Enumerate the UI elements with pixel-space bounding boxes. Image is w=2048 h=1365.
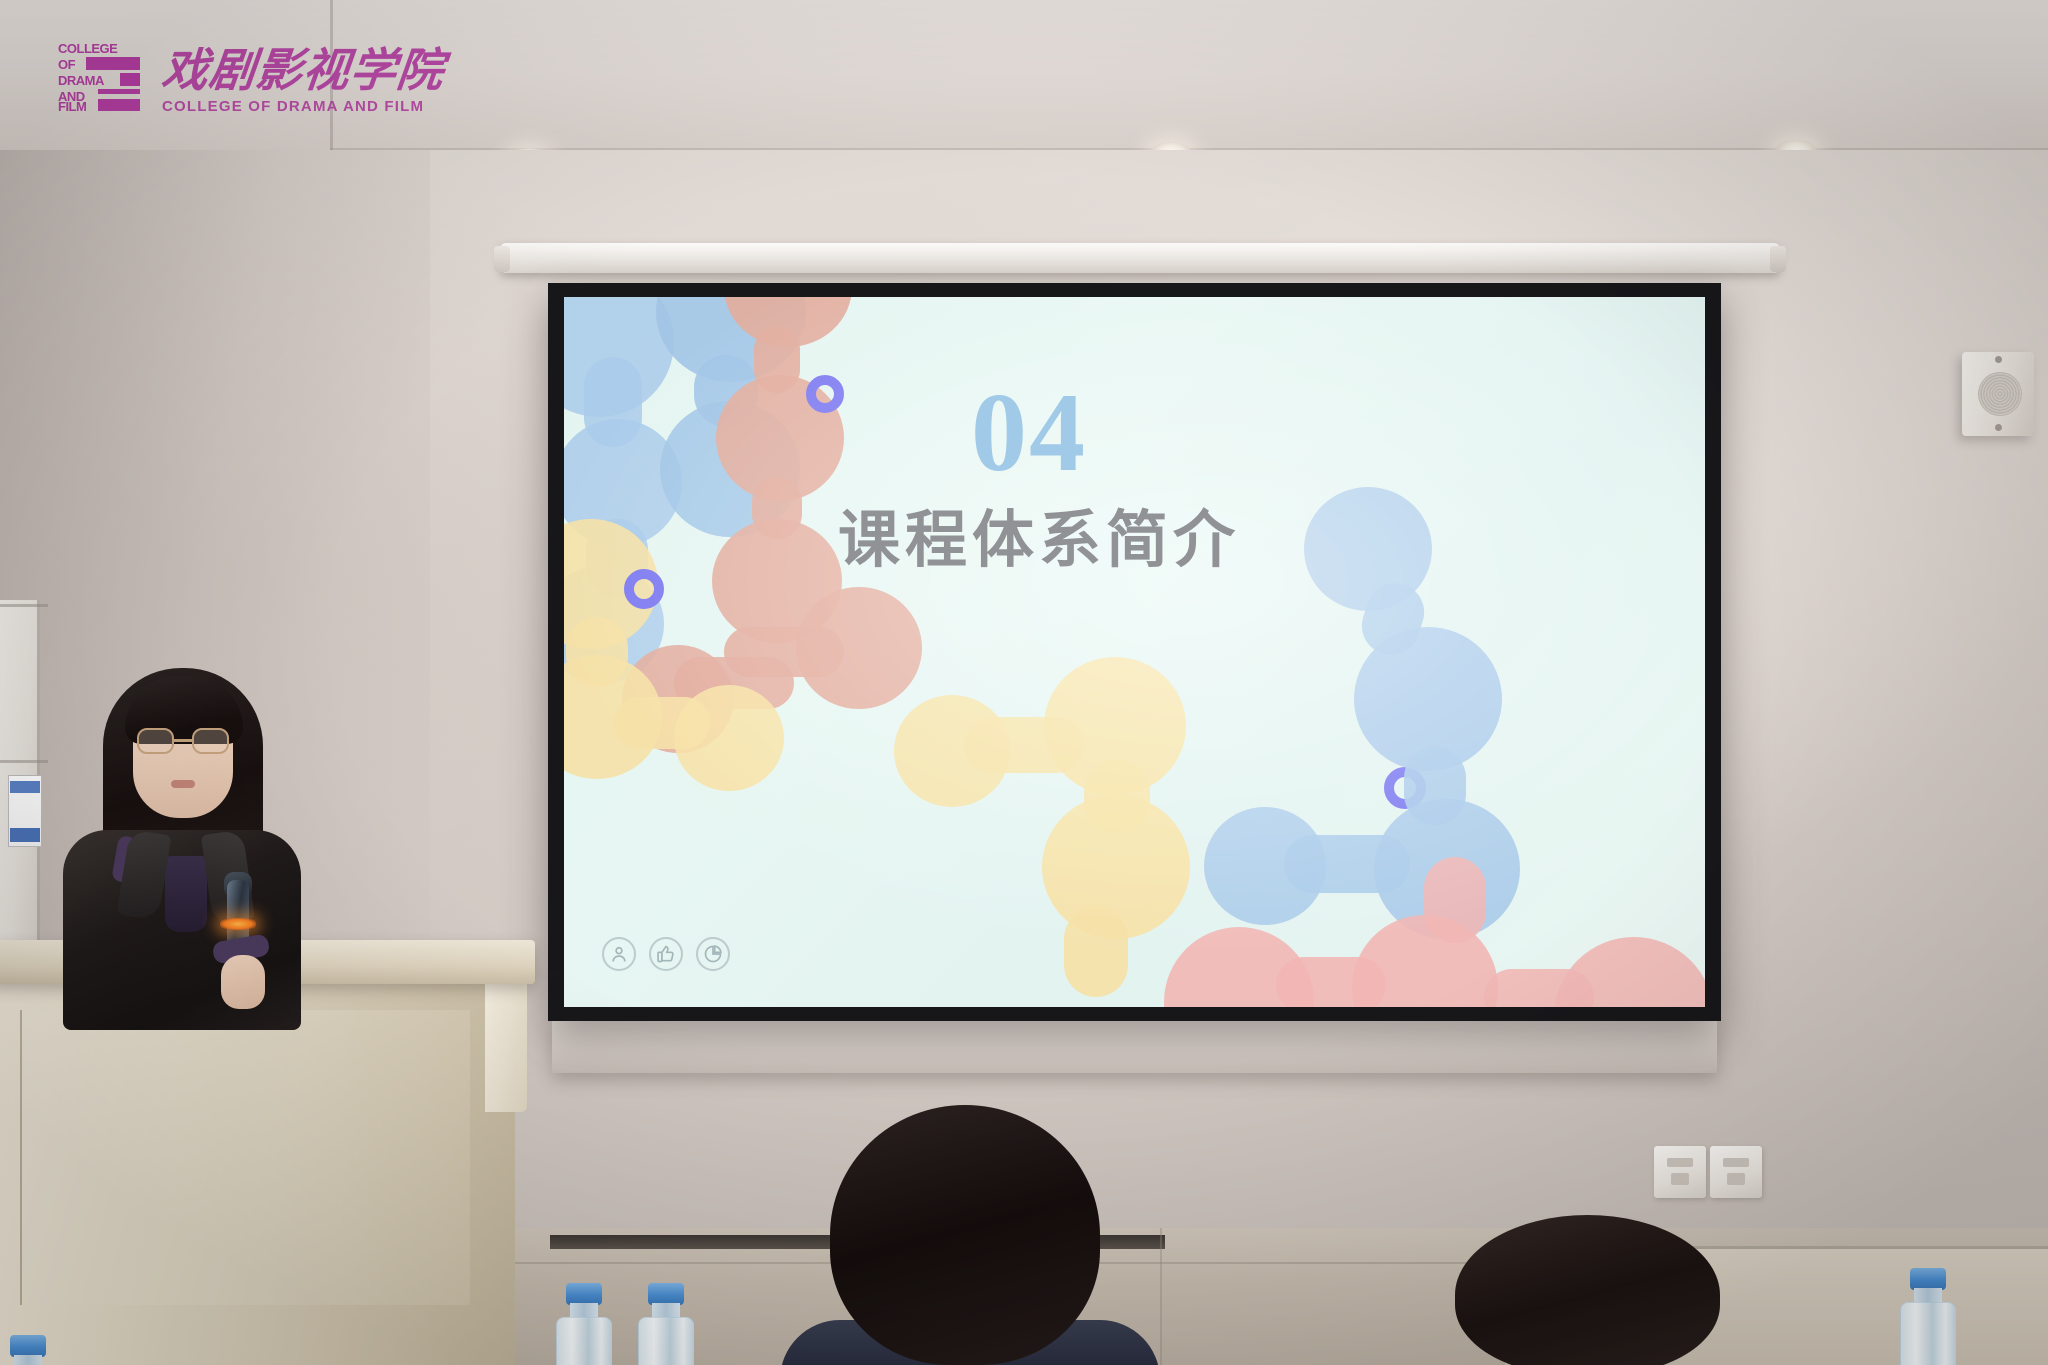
slide-footer-icons (602, 937, 730, 971)
slide-title: 课程体系简介 (739, 509, 1339, 571)
decor-blob-blue (1204, 807, 1326, 925)
decor-ring-purple (624, 569, 664, 609)
notice-header-band (10, 781, 40, 793)
glasses-lens-right (192, 728, 229, 754)
presentation-slide: 04 课程体系简介 (564, 297, 1705, 1007)
college-logo: COLLEGE OF DRAMA AND FILM 戏剧影视学院 COLLEGE… (58, 42, 388, 114)
lectern-front-panel (20, 1010, 470, 1305)
logo-mark-line-3: DRAMA (58, 74, 104, 87)
roller-cap-left (494, 246, 510, 272)
lecture-hall-photo: COLLEGE OF DRAMA AND FILM 戏剧影视学院 COLLEGE… (0, 0, 2048, 1365)
logo-mark-line-2: OF (58, 58, 75, 71)
screen-lower-skirt (552, 1021, 1717, 1073)
decor-link-yellow (1064, 907, 1128, 997)
glasses-bridge (174, 739, 192, 742)
speaker-screw (1995, 424, 2002, 431)
presenter-mouth (171, 780, 195, 788)
logo-bar (98, 89, 140, 94)
glasses-icon (137, 728, 229, 754)
bottle-cap (648, 1283, 684, 1305)
speaker-screw (1995, 356, 2002, 363)
decor-blob-yellow (674, 685, 784, 791)
audience-member-front-center (830, 1105, 1100, 1365)
decor-link-pink (1424, 857, 1486, 943)
roller-cap-right (1770, 246, 1786, 272)
cabinet-seam (0, 604, 48, 607)
logo-english-name: COLLEGE OF DRAMA AND FILM (162, 98, 424, 115)
bottle-body (638, 1317, 694, 1365)
bottle-neck (14, 1355, 42, 1365)
floor-seam-vertical (1160, 1228, 1162, 1365)
decor-blob-salmon (796, 587, 922, 709)
projector-screen-roller (500, 243, 1780, 273)
presenter (55, 660, 305, 960)
bottle-cap (566, 1283, 602, 1305)
notice-footer-band (10, 828, 40, 842)
bottle-body (1900, 1302, 1956, 1365)
logo-mark-icon: COLLEGE OF DRAMA AND FILM (58, 42, 140, 112)
power-outlet[interactable] (1710, 1146, 1762, 1198)
presenter-inner-shirt (165, 856, 207, 932)
lectern-side-notch (485, 982, 527, 1112)
microphone-led (220, 918, 256, 930)
pie-chart-icon (696, 937, 730, 971)
person-icon (602, 937, 636, 971)
audience-member-front-right (1455, 1215, 1720, 1365)
thumbs-up-icon (649, 937, 683, 971)
logo-mark-line-1: COLLEGE (58, 42, 117, 55)
speaker-grille-icon (1978, 372, 2022, 416)
power-outlet[interactable] (1654, 1146, 1706, 1198)
bottle-body (556, 1317, 612, 1365)
logo-bar (98, 99, 140, 111)
logo-bar (120, 73, 140, 86)
decor-blob-yellow (894, 695, 1010, 807)
slide-section-number: 04 (819, 377, 1239, 489)
decor-link-pink (1484, 969, 1594, 1007)
logo-bar (86, 57, 140, 70)
projector-screen: 04 课程体系简介 (548, 283, 1721, 1021)
logo-chinese-name: 戏剧影视学院 (159, 46, 392, 94)
bottle-cap (1910, 1268, 1946, 1290)
bottle-cap (10, 1335, 46, 1357)
cabinet-seam (0, 760, 48, 763)
glasses-lens-left (137, 728, 174, 754)
logo-mark-line-5: FILM (58, 100, 86, 113)
presenter-hand (221, 955, 265, 1009)
